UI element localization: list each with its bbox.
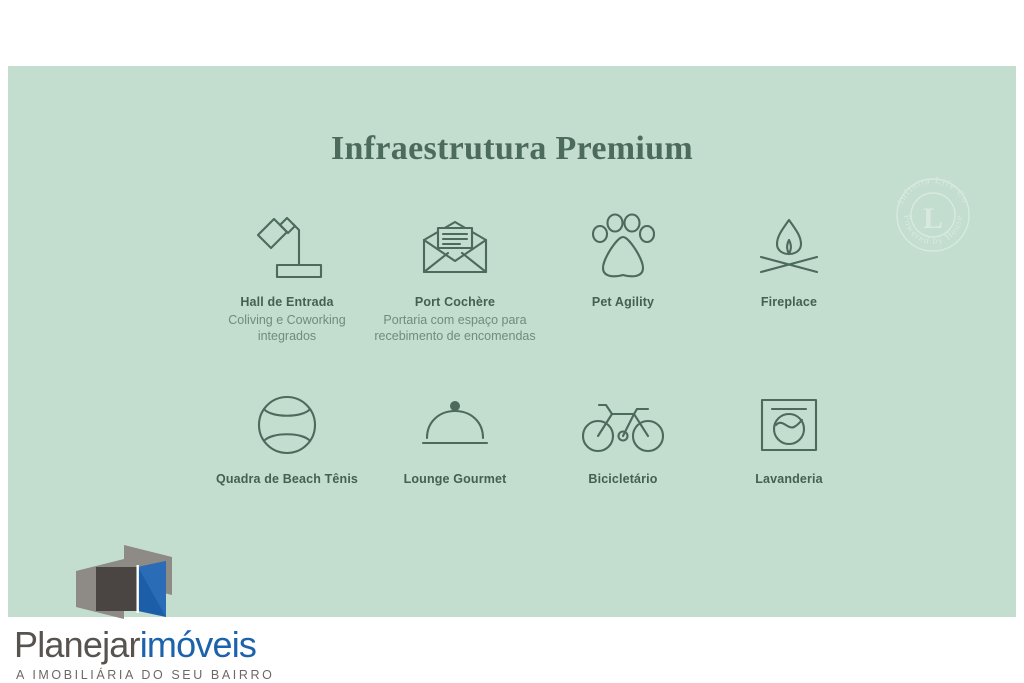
page-title: Infraestrutura Premium <box>8 130 1016 168</box>
svg-text:Powered by House: Powered by House <box>901 214 965 247</box>
feature-item-pet-agility[interactable]: Pet Agility <box>538 211 708 311</box>
feature-item-quadra-de-beach-tenis[interactable]: Quadra de Beach Tênis <box>202 388 372 488</box>
infrastructure-panel: Infraestrutura Premium Infinita Life Co … <box>8 66 1016 617</box>
feature-title: Lounge Gourmet <box>370 472 540 488</box>
brand-name-part1: Planejar <box>14 624 140 665</box>
feature-title: Lavanderia <box>704 472 874 488</box>
feature-subtitle: Coliving e Coworking integrados <box>202 312 372 344</box>
brand-logo[interactable]: Planejarimóveis A IMOBILIÁRIA DO SEU BAI… <box>14 543 284 683</box>
svg-text:Infinita Life Co: Infinita Life Co <box>896 176 969 206</box>
feature-item-bicicletario[interactable]: Bicicletário <box>538 388 708 488</box>
campfire-icon <box>704 211 874 285</box>
watermark-bottom-text: Powered by House <box>901 214 965 247</box>
feature-title: Fireplace <box>704 295 874 311</box>
feature-item-lavanderia[interactable]: Lavanderia <box>704 388 874 488</box>
desk-lamp-icon <box>202 211 372 285</box>
brand-wordmark: Planejarimóveis <box>14 627 256 663</box>
paw-print-icon <box>538 211 708 285</box>
brand-name-part2: imóveis <box>140 624 256 665</box>
watermark-seal: Infinita Life Co Powered by House L <box>888 170 978 260</box>
feature-subtitle: Portaria com espaço para recebimento de … <box>370 312 540 344</box>
watermark-monogram: L <box>923 202 943 235</box>
feature-title: Port Cochère <box>370 295 540 311</box>
feature-item-fireplace[interactable]: Fireplace <box>704 211 874 311</box>
feature-title: Quadra de Beach Tênis <box>202 472 372 488</box>
watermark-top-text: Infinita Life Co <box>896 176 969 206</box>
open-envelope-icon <box>370 211 540 285</box>
bicycle-icon <box>538 388 708 462</box>
tennis-ball-icon <box>202 388 372 462</box>
feature-title: Pet Agility <box>538 295 708 311</box>
washing-machine-icon <box>704 388 874 462</box>
feature-item-lounge-gourmet[interactable]: Lounge Gourmet <box>370 388 540 488</box>
feature-item-port-cochere[interactable]: Port Cochère Portaria com espaço para re… <box>370 211 540 344</box>
brand-tagline: A IMOBILIÁRIA DO SEU BAIRRO <box>16 668 274 682</box>
cloche-icon <box>370 388 540 462</box>
feature-title: Hall de Entrada <box>202 295 372 311</box>
feature-title: Bicicletário <box>538 472 708 488</box>
feature-item-hall-de-entrada[interactable]: Hall de Entrada Coliving e Coworking int… <box>202 211 372 344</box>
